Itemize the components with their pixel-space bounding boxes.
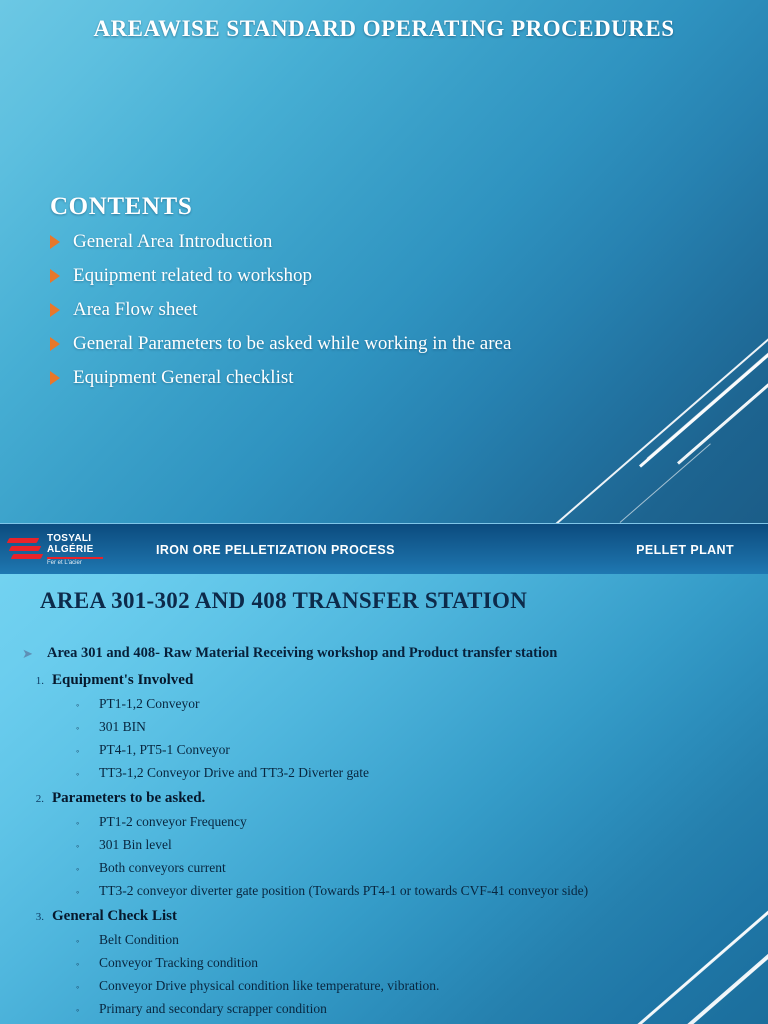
contents-item[interactable]: Area Flow sheet xyxy=(50,295,670,325)
contents-item-label: Area Flow sheet xyxy=(73,295,198,325)
logo-tagline: Fer et L'acier xyxy=(47,560,103,567)
numbered-section: 2. Parameters to be asked. ◦ PT1-2 conve… xyxy=(22,788,746,903)
section-number: 3. xyxy=(22,907,44,927)
footer-plant-label: PELLET PLANT xyxy=(636,524,734,574)
list-item[interactable]: ◦ Both conveyors current xyxy=(22,857,746,880)
tosyali-algerie-logo: TOSYALI ALGÉRIE Fer et L'acier xyxy=(8,526,112,574)
section-heading-row[interactable]: 3. General Check List xyxy=(22,906,746,927)
hollow-circle-bullet-icon: ◦ xyxy=(76,881,88,903)
contents-item[interactable]: Equipment related to workshop xyxy=(50,261,670,291)
slide-1-title: AREAWISE STANDARD OPERATING PROCEDURES xyxy=(0,16,768,42)
list-item[interactable]: ◦ Primary and secondary scrapper conditi… xyxy=(22,998,746,1021)
contents-item-label: General Parameters to be asked while wor… xyxy=(73,329,511,359)
list-item-label: TT3-2 conveyor diverter gate position (T… xyxy=(99,880,588,902)
list-item[interactable]: ◦ TT3-1,2 Conveyor Drive and TT3-2 Diver… xyxy=(22,762,746,785)
list-item-label: Primary and secondary scrapper condition xyxy=(99,998,327,1020)
logo-text-block: TOSYALI ALGÉRIE Fer et L'acier xyxy=(47,533,103,567)
hollow-circle-bullet-icon: ◦ xyxy=(76,999,88,1021)
list-item-label: Both conveyors current xyxy=(99,857,226,879)
hollow-circle-bullet-icon: ◦ xyxy=(76,763,88,785)
streak-line xyxy=(677,374,768,465)
hollow-circle-bullet-icon: ◦ xyxy=(76,858,88,880)
list-item-label: PT4-1, PT5-1 Conveyor xyxy=(99,739,230,761)
hollow-circle-bullet-icon: ◦ xyxy=(76,812,88,834)
section-items: ◦ Belt Condition ◦ Conveyor Tracking con… xyxy=(22,929,746,1021)
numbered-section: 1. Equipment's Involved ◦ PT1-1,2 Convey… xyxy=(22,670,746,785)
section-heading: Parameters to be asked. xyxy=(52,788,205,809)
hollow-circle-bullet-icon: ◦ xyxy=(76,835,88,857)
contents-item[interactable]: Equipment General checklist xyxy=(50,363,670,393)
streak-line xyxy=(620,443,711,523)
section-heading: Equipment's Involved xyxy=(52,670,193,691)
presentation-page: AREAWISE STANDARD OPERATING PROCEDURES C… xyxy=(0,0,768,1024)
slide-footer-bar: TOSYALI ALGÉRIE Fer et L'acier IRON ORE … xyxy=(0,523,768,574)
slide-2-body: ➤ Area 301 and 408- Raw Material Receivi… xyxy=(22,643,746,1023)
orange-triangle-bullet-icon xyxy=(50,337,60,351)
list-item[interactable]: ◦ 301 BIN xyxy=(22,716,746,739)
orange-triangle-bullet-icon xyxy=(50,269,60,283)
section-items: ◦ PT1-1,2 Conveyor ◦ 301 BIN ◦ PT4-1, PT… xyxy=(22,693,746,785)
contents-item-label: Equipment General checklist xyxy=(73,363,294,393)
contents-item-label: General Area Introduction xyxy=(73,227,272,257)
orange-triangle-bullet-icon xyxy=(50,303,60,317)
hollow-circle-bullet-icon: ◦ xyxy=(76,717,88,739)
section-number: 1. xyxy=(22,671,44,691)
tosyali-red-slashes-icon xyxy=(8,534,44,566)
slide-2: AREA 301-302 AND 408 TRANSFER STATION ➤ … xyxy=(0,574,768,1024)
list-item[interactable]: ◦ Conveyor Tracking condition xyxy=(22,952,746,975)
list-item[interactable]: ◦ Belt Condition xyxy=(22,929,746,952)
logo-name-line1: TOSYALI xyxy=(47,533,103,544)
logo-divider xyxy=(47,557,103,559)
contents-list: General Area Introduction Equipment rela… xyxy=(50,227,670,393)
lead-bullet-row[interactable]: ➤ Area 301 and 408- Raw Material Receivi… xyxy=(22,643,746,664)
hollow-circle-bullet-icon: ◦ xyxy=(76,976,88,998)
contents-item[interactable]: General Parameters to be asked while wor… xyxy=(50,329,670,359)
list-item[interactable]: ◦ Conveyor Drive physical condition like… xyxy=(22,975,746,998)
section-items: ◦ PT1-2 conveyor Frequency ◦ 301 Bin lev… xyxy=(22,811,746,903)
contents-item-label: Equipment related to workshop xyxy=(73,261,312,291)
slide-2-title: AREA 301-302 AND 408 TRANSFER STATION xyxy=(40,588,527,614)
list-item-label: Conveyor Tracking condition xyxy=(99,952,258,974)
streak-line xyxy=(686,370,768,456)
list-item[interactable]: ◦ 301 Bin level xyxy=(22,834,746,857)
list-item-label: PT1-2 conveyor Frequency xyxy=(99,811,247,833)
contents-heading: CONTENTS xyxy=(50,193,670,221)
contents-item[interactable]: General Area Introduction xyxy=(50,227,670,257)
section-heading: General Check List xyxy=(52,906,177,927)
section-number: 2. xyxy=(22,789,44,809)
section-heading-row[interactable]: 1. Equipment's Involved xyxy=(22,670,746,691)
footer-process-label: IRON ORE PELLETIZATION PROCESS xyxy=(156,524,395,574)
contents-block: CONTENTS General Area Introduction Equip… xyxy=(50,193,670,397)
list-item-label: PT1-1,2 Conveyor xyxy=(99,693,200,715)
slide-1: AREAWISE STANDARD OPERATING PROCEDURES C… xyxy=(0,0,768,523)
hollow-circle-bullet-icon: ◦ xyxy=(76,953,88,975)
list-item-label: Belt Condition xyxy=(99,929,179,951)
list-item-label: Conveyor Drive physical condition like t… xyxy=(99,975,439,997)
numbered-section: 3. General Check List ◦ Belt Condition ◦… xyxy=(22,906,746,1021)
lead-bullet-text: Area 301 and 408- Raw Material Receiving… xyxy=(47,643,557,664)
chevron-arrow-bullet-icon: ➤ xyxy=(22,644,34,663)
section-heading-row[interactable]: 2. Parameters to be asked. xyxy=(22,788,746,809)
orange-triangle-bullet-icon xyxy=(50,371,60,385)
list-item[interactable]: ◦ PT1-2 conveyor Frequency xyxy=(22,811,746,834)
hollow-circle-bullet-icon: ◦ xyxy=(76,740,88,762)
logo-name-line2: ALGÉRIE xyxy=(47,544,103,555)
hollow-circle-bullet-icon: ◦ xyxy=(76,694,88,716)
list-item-label: TT3-1,2 Conveyor Drive and TT3-2 Diverte… xyxy=(99,762,369,784)
list-item-label: 301 Bin level xyxy=(99,834,172,856)
list-item[interactable]: ◦ TT3-2 conveyor diverter gate position … xyxy=(22,880,746,903)
list-item-label: 301 BIN xyxy=(99,716,146,738)
orange-triangle-bullet-icon xyxy=(50,235,60,249)
hollow-circle-bullet-icon: ◦ xyxy=(76,930,88,952)
list-item[interactable]: ◦ PT1-1,2 Conveyor xyxy=(22,693,746,716)
list-item[interactable]: ◦ PT4-1, PT5-1 Conveyor xyxy=(22,739,746,762)
